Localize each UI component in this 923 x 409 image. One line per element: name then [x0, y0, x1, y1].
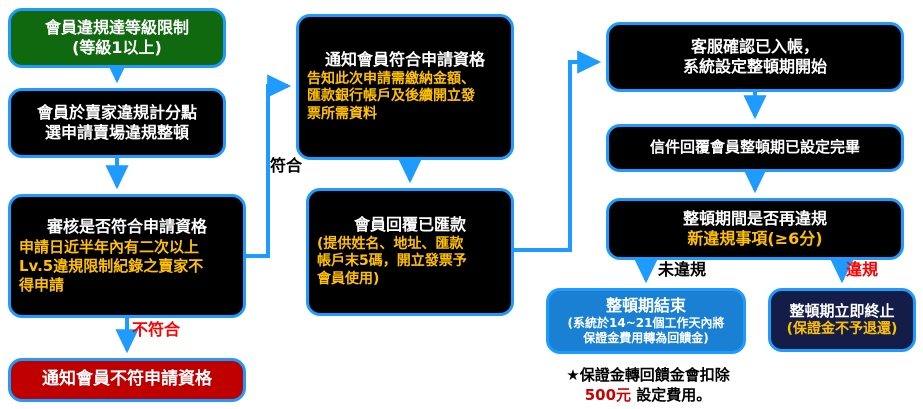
node-review-subtext: 申請日近半年內有二次以上 Lv.5違規限制紀錄之賣家不 得申請	[17, 238, 237, 295]
node-notify-subtext: 告知此次申請需繳納金額、 匯款銀行帳戶及後續開立發 票所需資料	[305, 71, 505, 124]
node-notify: 通知會員符合申請資格 告知此次申請需繳納金額、 匯款銀行帳戶及後續開立發 票所需…	[296, 14, 514, 160]
node-period-terminated-title: 整頓期立即終止	[789, 302, 894, 321]
node-member-paid-subtext: (提供姓名、地址、匯款 帳戶末5碼，開立發票予 會員使用)	[315, 236, 505, 289]
node-period-terminated: 整頓期立即終止 (保證金不予退還)	[768, 288, 916, 352]
edge-label-violation: 違規	[846, 262, 878, 278]
node-confirm-payment: 客服確認已入帳， 系統設定整頓期開始	[606, 22, 904, 92]
node-review: 審核是否符合申請資格 申請日近半年內有二次以上 Lv.5違規限制紀錄之賣家不 得…	[8, 194, 246, 318]
footnote-prefix: ★保證金轉回饋金會扣除	[566, 366, 729, 384]
node-period-terminated-subtext: (保證金不予退還)	[787, 321, 898, 339]
node-mail-reply: 信件回覆會員整頓期已設定完畢	[606, 124, 904, 172]
footnote-suffix: 設定費用。	[631, 386, 711, 404]
node-period-finished: 整頓期結束 (系統於14~21個工作天內將 保證金費用轉為回饋金)	[546, 288, 746, 354]
node-member-paid-title: 會員回覆已匯款	[354, 215, 466, 235]
node-apply-title: 會員於賣家違規計分點 選申請賣場違規整頓	[37, 103, 197, 144]
node-decision-violation-subtext: 新違規事項(≥6分)	[687, 229, 822, 249]
node-level-limit: 會員違規達等級限制 (等級1以上)	[8, 8, 226, 68]
node-notify-title: 通知會員符合申請資格	[325, 50, 485, 70]
edge-paid-to-confirm	[514, 62, 598, 250]
node-decision-violation: 整頓期間是否再違規 新違規事項(≥6分)	[606, 198, 904, 260]
node-member-paid: 會員回覆已匯款 (提供姓名、地址、匯款 帳戶末5碼，開立發票予 會員使用)	[306, 188, 514, 316]
edge-label-not-match: 不符合	[132, 322, 180, 338]
node-apply: 會員於賣家違規計分點 選申請賣場違規整頓	[8, 88, 226, 158]
node-mail-reply-title: 信件回覆會員整頓期已設定完畢	[650, 138, 860, 157]
node-level-limit-title: 會員違規達等級限制 (等級1以上)	[45, 18, 189, 59]
node-period-finished-subtext: (系統於14~21個工作天內將 保證金費用轉為回饋金)	[568, 316, 725, 346]
flowchart-canvas: 會員違規達等級限制 (等級1以上) 會員於賣家違規計分點 選申請賣場違規整頓 審…	[0, 0, 923, 409]
node-confirm-payment-title: 客服確認已入帳， 系統設定整頓期開始	[683, 37, 827, 78]
node-reject-title: 通知會員不符申請資格	[42, 369, 212, 391]
node-reject: 通知會員不符申請資格	[8, 358, 246, 402]
node-period-finished-title: 整頓期結束	[606, 296, 686, 316]
node-review-title: 審核是否符合申請資格	[47, 217, 207, 237]
edge-label-no-violation: 未違規	[658, 262, 706, 278]
node-decision-violation-title: 整頓期間是否再違規	[683, 209, 827, 229]
footnote-amount: 500元	[585, 386, 631, 404]
footnote: ★保證金轉回饋金會扣除 500元 設定費用。	[524, 366, 772, 405]
edge-label-match: 符合	[270, 158, 302, 174]
